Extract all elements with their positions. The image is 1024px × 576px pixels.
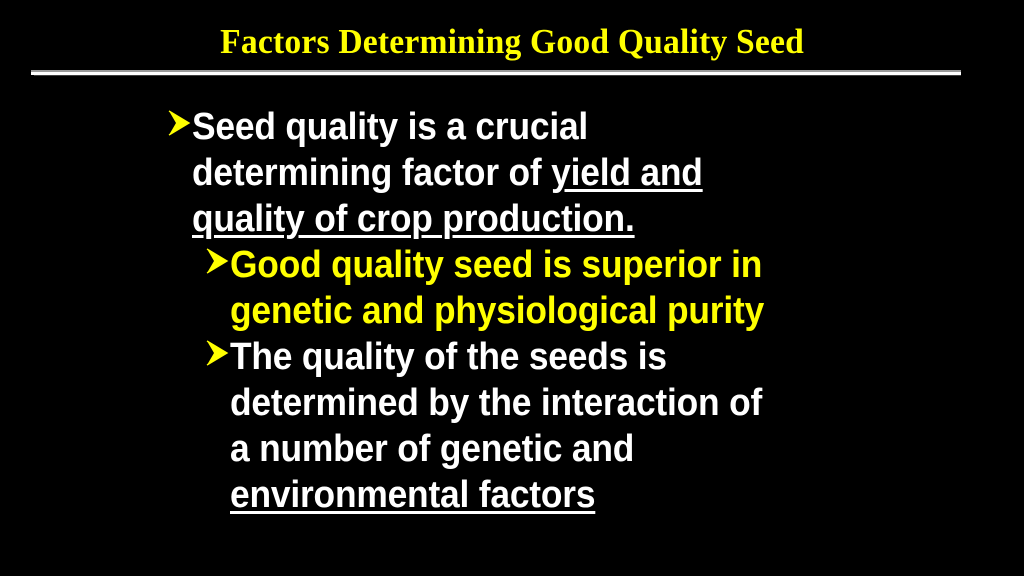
arrowhead-bullet-icon [204, 338, 230, 384]
bullet-text-line: Good quality seed is superior in [230, 242, 968, 288]
rule-shadow [34, 75, 961, 76]
bullet-item: Seed quality is a crucialdetermining fac… [0, 104, 1024, 242]
bullet-item: The quality of the seeds isdetermined by… [0, 334, 1024, 518]
bullet-list: Seed quality is a crucialdetermining fac… [0, 104, 1024, 518]
text-run: a number of genetic and [230, 428, 634, 470]
text-run: determining factor of [192, 152, 551, 194]
text-run: determined by the interaction of [230, 382, 762, 424]
title-divider-rule [31, 70, 961, 76]
text-run: Seed quality is a crucial [192, 106, 588, 148]
arrowhead-bullet-icon [204, 246, 230, 292]
text-run: The quality of the seeds is [230, 336, 667, 378]
bullet-text-line: genetic and physiological purity [230, 288, 968, 334]
bullet-text: Good quality seed is superior ingenetic … [230, 242, 968, 334]
text-run: Good quality seed is superior in [230, 244, 762, 286]
bullet-text: The quality of the seeds isdetermined by… [230, 334, 968, 518]
bullet-text: Seed quality is a crucialdetermining fac… [192, 104, 966, 242]
arrowhead-bullet-icon [166, 108, 192, 154]
bullet-text-line: a number of genetic and [230, 426, 968, 472]
bullet-item: Good quality seed is superior ingenetic … [0, 242, 1024, 334]
bullet-text-line: determined by the interaction of [230, 380, 968, 426]
bullet-text-line: Seed quality is a crucial [192, 104, 966, 150]
underlined-text-run: environmental factors [230, 474, 595, 516]
bullet-text-line: determining factor of yield and [192, 150, 966, 196]
title-area: Factors Determining Good Quality Seed [0, 22, 1024, 62]
underlined-text-run: quality of crop production. [192, 198, 635, 240]
underlined-text-run: yield and [551, 152, 703, 194]
page-title: Factors Determining Good Quality Seed [220, 22, 804, 62]
bullet-text-line: The quality of the seeds is [230, 334, 968, 380]
bullet-text-line: environmental factors [230, 472, 968, 518]
bullet-text-line: quality of crop production. [192, 196, 966, 242]
presentation-slide: Factors Determining Good Quality Seed Se… [0, 0, 1024, 576]
text-run: genetic and physiological purity [230, 290, 764, 332]
